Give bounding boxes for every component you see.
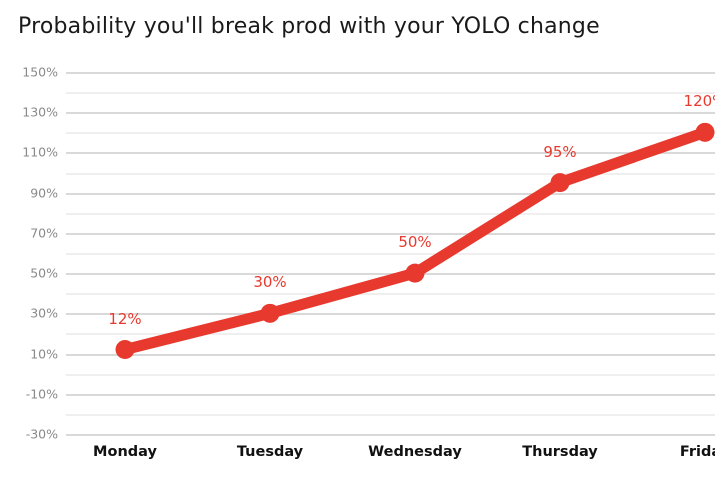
x-axis: MondayTuesdayWednesdayThursdayFriday — [66, 444, 715, 474]
y-axis-tick-label: 150% — [0, 65, 58, 80]
y-axis: 150%130%110%90%70%50%30%10%-10%-30% — [0, 72, 58, 434]
gridline-major — [66, 394, 715, 396]
data-point-label: 120% — [684, 92, 715, 110]
chart-container: Probability you'll break prod with your … — [0, 0, 715, 480]
gridline-major — [66, 193, 715, 195]
y-axis-tick-label: -10% — [0, 386, 58, 401]
gridline-minor — [66, 293, 715, 295]
gridline-major — [66, 313, 715, 315]
data-point-label: 95% — [543, 143, 576, 161]
x-axis-tick-label: Wednesday — [368, 444, 462, 460]
x-axis-tick-label: Monday — [93, 444, 157, 460]
gridline-minor — [66, 333, 715, 335]
gridline-major — [66, 152, 715, 154]
y-axis-tick-label: 130% — [0, 105, 58, 120]
y-axis-tick-label: 50% — [0, 266, 58, 281]
y-axis-tick-label: 110% — [0, 145, 58, 160]
data-point-label: 50% — [398, 233, 431, 251]
y-axis-tick-label: 10% — [0, 346, 58, 361]
data-point-label: 30% — [253, 273, 286, 291]
gridline-minor — [66, 374, 715, 376]
chart-title: Probability you'll break prod with your … — [18, 14, 600, 39]
gridline-major — [66, 354, 715, 356]
gridline-minor — [66, 414, 715, 416]
gridline-minor — [66, 92, 715, 94]
data-point-label: 12% — [108, 310, 141, 328]
x-axis-tick-label: Friday — [680, 444, 715, 460]
gridline-major — [66, 233, 715, 235]
gridline-major — [66, 434, 715, 436]
gridline-major — [66, 72, 715, 74]
gridline-minor — [66, 213, 715, 215]
y-axis-tick-label: 70% — [0, 225, 58, 240]
gridline-major — [66, 273, 715, 275]
x-axis-tick-label: Tuesday — [237, 444, 303, 460]
gridline-major — [66, 112, 715, 114]
plot-area — [66, 72, 715, 434]
gridline-minor — [66, 132, 715, 134]
y-axis-tick-label: -30% — [0, 427, 58, 442]
y-axis-tick-label: 30% — [0, 306, 58, 321]
gridline-minor — [66, 173, 715, 175]
gridline-minor — [66, 253, 715, 255]
y-axis-tick-label: 90% — [0, 185, 58, 200]
x-axis-tick-label: Thursday — [522, 444, 598, 460]
